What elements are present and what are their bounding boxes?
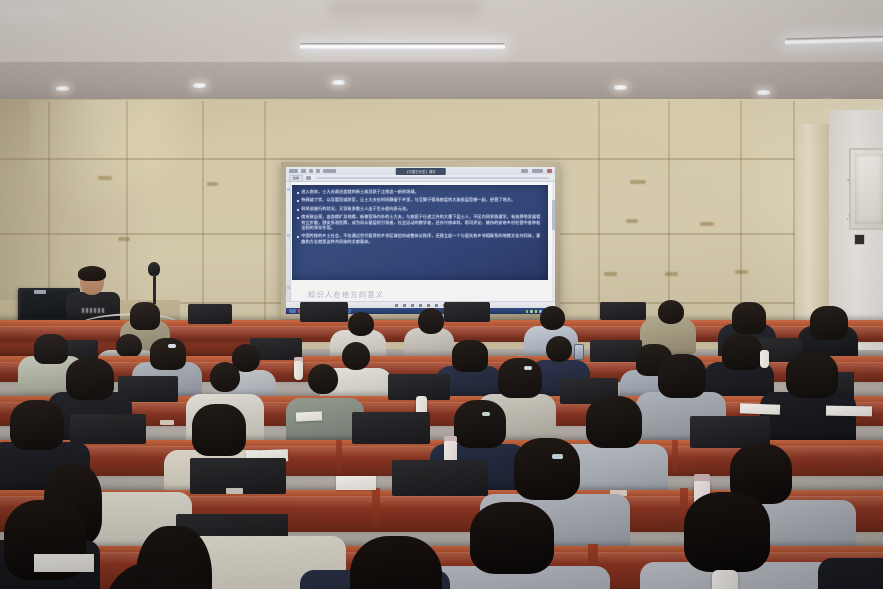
water-bottle [760, 350, 769, 368]
window-title: 《中国古代史》课件 [395, 168, 446, 175]
tab-slideshow[interactable]: 放映 [289, 175, 303, 182]
hair-clip [168, 344, 176, 348]
student-hair [514, 438, 580, 500]
slide-thumbnail[interactable] [287, 188, 290, 191]
bullet-dot-icon [297, 209, 299, 211]
student-hair [452, 340, 488, 372]
seat-back [392, 460, 488, 496]
slide-canvas: 进入南宋，士大夫政治造就的新土族活跃于江南这一新的场域。 待阙或丁忧、以及罢官或… [286, 182, 555, 314]
student-hair [192, 404, 246, 456]
slide-bullet-text: 中国传统的乡土社会，不仅通过世代租赁的乡邻区域信仰或整体论秩序，还建立起一个与祖… [301, 233, 543, 244]
downlight-icon [614, 85, 627, 90]
bottle-cap [294, 357, 303, 361]
wall-marble-vein [735, 270, 748, 274]
wall-marble-vein [98, 176, 112, 180]
seat-back [444, 302, 490, 322]
student-head [418, 308, 444, 334]
student-head [540, 306, 565, 330]
seat-number-tag [160, 420, 174, 425]
student-hair [722, 334, 762, 370]
bottle-cap [694, 474, 710, 481]
wall-speaker [849, 148, 883, 230]
bullet-dot-icon [297, 236, 299, 238]
bullet-dot-icon [297, 192, 299, 194]
student-head [546, 336, 572, 362]
student-torso [818, 558, 883, 589]
paper-handout [740, 403, 780, 414]
bottle-cap [444, 436, 457, 441]
wall-marble-vein [604, 272, 617, 276]
slide-bullet: 科举选後行的状况，又导致多数士人出于生计趋向多元化。 [297, 206, 543, 211]
wall-marble-vein [665, 272, 678, 276]
lecture-hall-photo: 《中国古代史》课件 放映 [0, 0, 883, 589]
water-bottle [294, 360, 303, 380]
seat-back [352, 412, 430, 444]
student-head [348, 312, 374, 336]
window-controls [521, 169, 552, 173]
projected-desktop[interactable]: 《中国古代史》课件 放映 [286, 167, 555, 314]
student-hair [130, 302, 160, 330]
downlight-icon [332, 80, 345, 85]
tissue-pack [336, 476, 376, 490]
monitor-brand-badge [34, 290, 46, 294]
wall-marble-vein [700, 222, 714, 226]
hair-clip [524, 366, 532, 370]
smartphone [574, 344, 584, 360]
gooseneck-microphone [148, 262, 160, 302]
student-hair [470, 502, 554, 574]
slide-scrollbar[interactable] [552, 182, 555, 314]
slide-thumbnail[interactable] [287, 234, 290, 237]
student-hair [454, 400, 506, 448]
seat-back [300, 302, 348, 322]
desk-divider [336, 440, 342, 474]
minimize-icon[interactable] [521, 169, 528, 173]
student-hair [810, 306, 848, 340]
slide-caption: 知识人在地方的意义 [308, 290, 385, 300]
student-head [342, 342, 370, 370]
student-head [658, 300, 684, 324]
presenter-hair [78, 266, 106, 281]
student-hair [684, 492, 770, 572]
slide-bullet-text: 进入南宋，士大夫政治造就的新土族活跃于江南这一新的场域。 [301, 189, 418, 194]
bullet-dot-icon [297, 200, 299, 202]
maximize-icon[interactable] [532, 169, 543, 173]
toolbar-progress-strip [316, 177, 549, 179]
fluorescent-tube-light-icon [300, 43, 505, 50]
paper-handout [826, 406, 872, 417]
slide-bullet-text: 科举选後行的状况，又导致多数士人出于生计趋向多元化。 [301, 206, 410, 211]
app-menu-icon[interactable] [289, 169, 298, 173]
title-bar-left-controls [286, 169, 336, 173]
student-hair [10, 400, 64, 450]
hair-clip [552, 454, 563, 459]
window-title-bar: 《中国古代史》课件 [286, 167, 555, 175]
redo-icon[interactable] [316, 169, 320, 173]
student-hair [350, 536, 442, 589]
audience-area [0, 300, 883, 589]
save-icon[interactable] [301, 169, 306, 173]
wall-marble-vein [118, 237, 130, 241]
student-head [116, 334, 142, 358]
slide-thumbnail[interactable] [287, 286, 290, 289]
window-toolbar: 放映 [286, 175, 555, 182]
student-hair [586, 396, 642, 448]
speaker-indicator-icon [854, 234, 865, 245]
wall-panel-line [0, 158, 800, 160]
seat-back [600, 302, 646, 320]
desk-divider [372, 488, 380, 530]
seat-back [70, 414, 146, 444]
seat-number-tag [226, 488, 243, 494]
student-hair [732, 302, 766, 334]
bullet-dot-icon [297, 217, 299, 219]
downlight-icon [56, 86, 69, 91]
student-head [210, 362, 240, 392]
close-icon[interactable] [547, 169, 552, 173]
student-hair [658, 354, 706, 398]
wall-marble-vein [630, 180, 646, 184]
scrollbar-thumb[interactable] [552, 200, 555, 230]
hair-clip [482, 412, 490, 416]
water-bottle [712, 570, 738, 589]
paper-handout [296, 411, 322, 421]
seat-back [188, 304, 232, 324]
undo-icon[interactable] [309, 169, 313, 173]
wall-marble-vein [207, 182, 218, 186]
ceiling-soffit [0, 62, 883, 102]
downlight-icon [193, 83, 206, 88]
slide-bullet-text: 南宋致出现，由血缘扩及地缘，新袭官场内外的士大夫，与旅居于仕途之外的大量下层士人… [301, 214, 543, 230]
slide-bullet: 待阙或丁忧、以及罢官或辞官，让士大夫长时间静留于乡里，与互脚于宿场底层的大族低层… [297, 197, 543, 202]
slide-bullet-text: 待阙或丁忧、以及罢官或辞官，让士大夫长时间静留于乡里，与互脚于宿场底层的大族低层… [301, 197, 515, 202]
student-hair [498, 358, 542, 398]
student-hair [34, 334, 68, 364]
wall-marble-vein [626, 219, 638, 223]
student-head [308, 364, 338, 394]
document-name-chip[interactable] [323, 169, 336, 173]
view-icon[interactable] [306, 176, 311, 180]
student-hair [786, 352, 838, 398]
paper-handout [34, 554, 94, 572]
seat-back [590, 340, 642, 362]
projection-screen-frame: 《中国古代史》课件 放映 [281, 162, 560, 319]
ceiling-shadow-patch [330, 0, 480, 16]
student-hair [150, 338, 186, 370]
slide-bullet: 中国传统的乡土社会，不仅通过世代租赁的乡邻区域信仰或整体论秩序，还建立起一个与祖… [297, 233, 543, 244]
desk-divider [672, 440, 678, 474]
slide-thumbnail-pane[interactable] [286, 182, 291, 314]
downlight-icon [757, 90, 770, 95]
slide-bullet: 进入南宋，士大夫政治造就的新土族活跃于江南这一新的场域。 [297, 189, 543, 194]
fluorescent-tube-light-icon [0, 8, 60, 15]
slide-bullet: 南宋致出现，由血缘扩及地缘，新袭官场内外的士大夫，与旅居于仕途之外的大量下层士人… [297, 214, 543, 230]
slide-text-block: 进入南宋，士大夫政治造就的新土族活跃于江南这一新的场域。 待阙或丁忧、以及罢官或… [292, 185, 548, 280]
student-hair [66, 358, 114, 400]
